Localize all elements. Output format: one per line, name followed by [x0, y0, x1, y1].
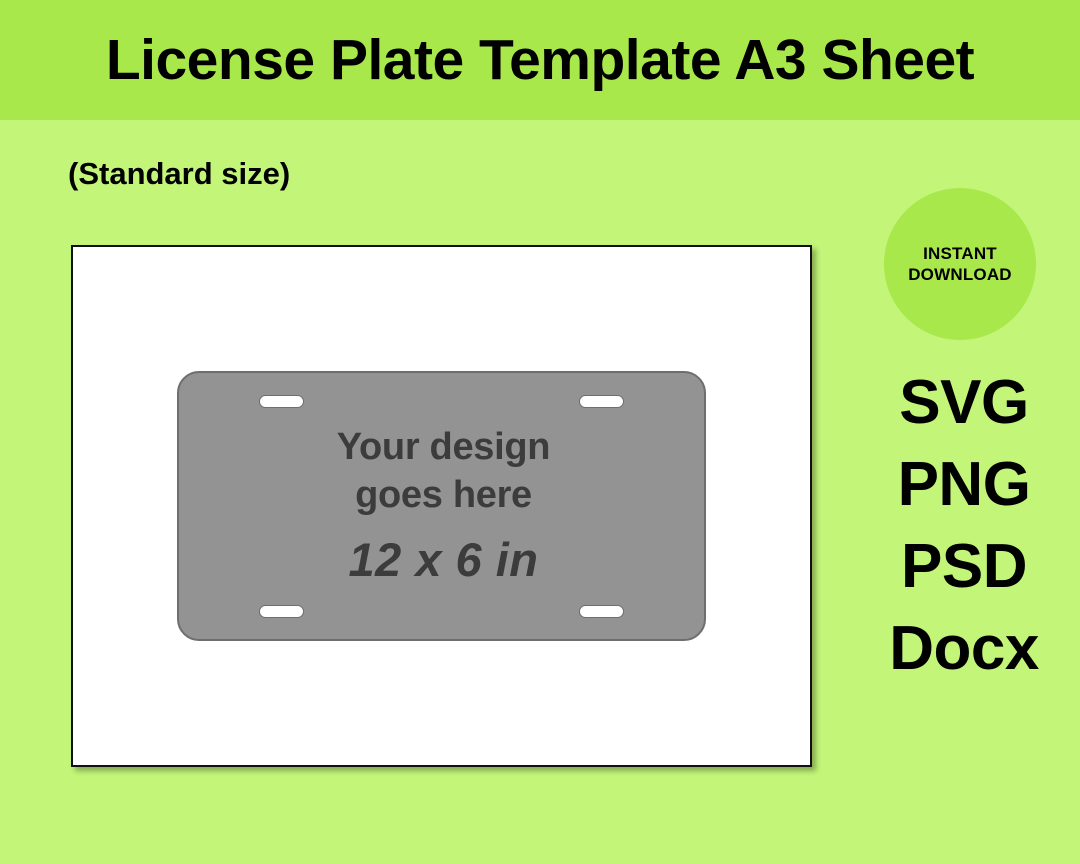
poster-canvas: License Plate Template A3 Sheet (Standar…: [0, 0, 1080, 864]
mounting-slot-top-right: [579, 395, 624, 408]
a3-sheet: Your design goes here 12 x 6 in: [71, 245, 812, 767]
subtitle-standard-size: (Standard size): [68, 156, 290, 192]
plate-dimensions-label: 12 x 6 in: [179, 532, 708, 587]
license-plate-mockup: Your design goes here 12 x 6 in: [177, 371, 706, 641]
mounting-slot-bottom-right: [579, 605, 624, 618]
badge-line-2: DOWNLOAD: [908, 264, 1012, 285]
mounting-slot-top-left: [259, 395, 304, 408]
plate-placeholder-text: Your design goes here 12 x 6 in: [179, 423, 708, 587]
page-title: License Plate Template A3 Sheet: [0, 0, 1080, 120]
file-format-docx: Docx: [856, 608, 1072, 690]
file-format-psd: PSD: [856, 526, 1072, 608]
badge-line-1: INSTANT: [923, 243, 997, 264]
file-format-list: SVG PNG PSD Docx: [856, 362, 1072, 690]
file-format-svg: SVG: [856, 362, 1072, 444]
plate-text-line-2: goes here: [179, 471, 708, 519]
plate-text-line-1: Your design: [179, 423, 708, 471]
file-format-png: PNG: [856, 444, 1072, 526]
instant-download-badge: INSTANT DOWNLOAD: [884, 188, 1036, 340]
mounting-slot-bottom-left: [259, 605, 304, 618]
